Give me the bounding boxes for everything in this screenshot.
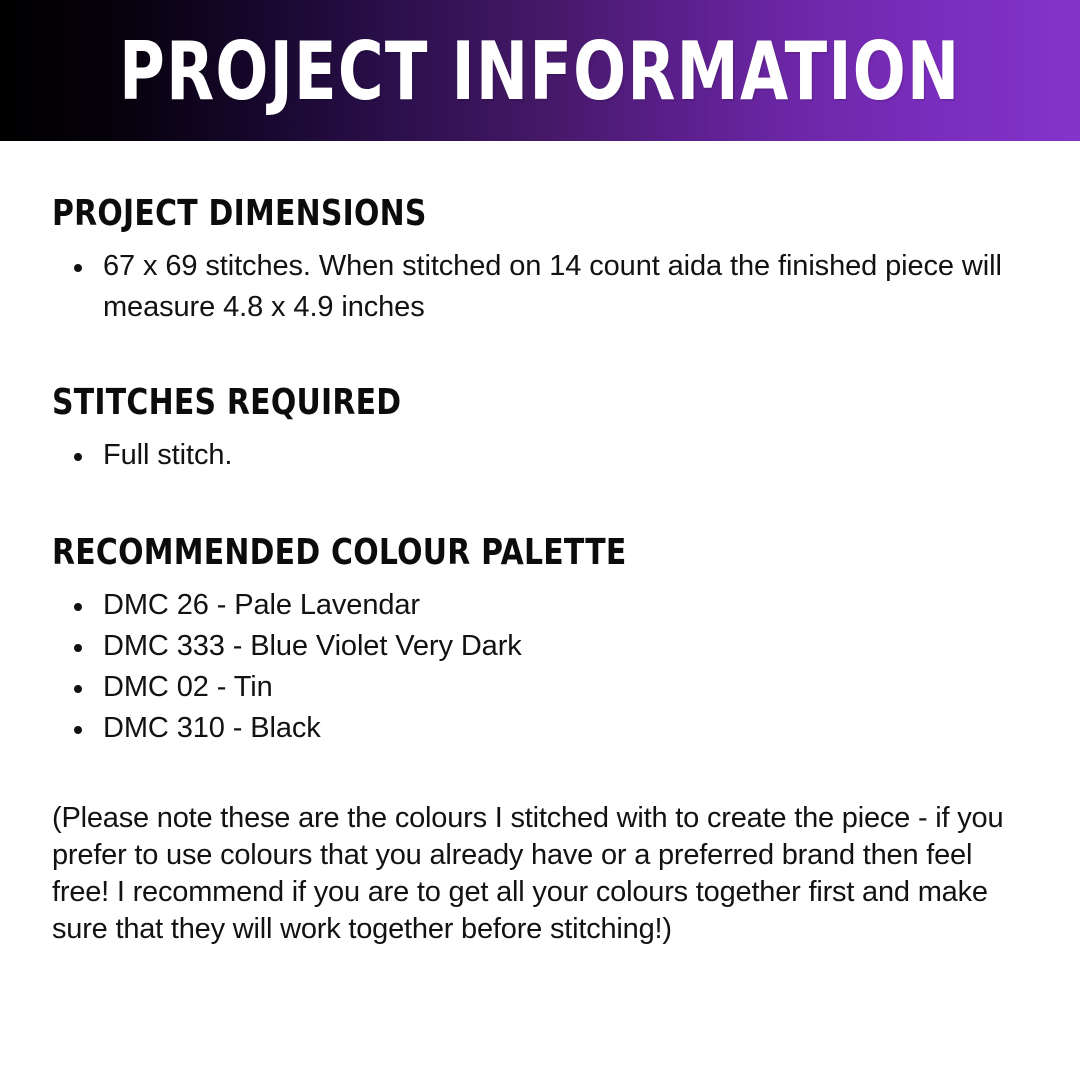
list-item: Full stitch. (52, 435, 1028, 476)
project-dimensions-list: 67 x 69 stitches. When stitched on 14 co… (52, 246, 1028, 328)
heading-stitches-required: STITCHES REQUIRED (52, 385, 862, 421)
section-stitches-required: STITCHES REQUIRED Full stitch. (52, 385, 1028, 476)
section-recommended-colour-palette: RECOMMENDED COLOUR PALETTE DMC 26 - Pale… (52, 535, 1028, 749)
stitches-required-list: Full stitch. (52, 435, 1028, 476)
list-item: DMC 26 - Pale Lavendar (52, 585, 1028, 626)
page-title: PROJECT INFORMATION (119, 31, 960, 111)
list-item: DMC 02 - Tin (52, 667, 1028, 708)
header-banner: PROJECT INFORMATION (0, 0, 1080, 141)
list-item: DMC 310 - Black (52, 708, 1028, 749)
heading-recommended-colour-palette: RECOMMENDED COLOUR PALETTE (52, 535, 862, 571)
colour-palette-note: (Please note these are the colours I sti… (52, 800, 1028, 948)
colour-palette-list: DMC 26 - Pale Lavendar DMC 333 - Blue Vi… (52, 585, 1028, 749)
list-item: 67 x 69 stitches. When stitched on 14 co… (52, 246, 1028, 328)
heading-project-dimensions: PROJECT DIMENSIONS (52, 196, 862, 232)
list-item: DMC 333 - Blue Violet Very Dark (52, 626, 1028, 667)
content-area: PROJECT DIMENSIONS 67 x 69 stitches. Whe… (0, 141, 1080, 948)
project-information-page: PROJECT INFORMATION PROJECT DIMENSIONS 6… (0, 0, 1080, 1080)
section-project-dimensions: PROJECT DIMENSIONS 67 x 69 stitches. Whe… (52, 196, 1028, 328)
